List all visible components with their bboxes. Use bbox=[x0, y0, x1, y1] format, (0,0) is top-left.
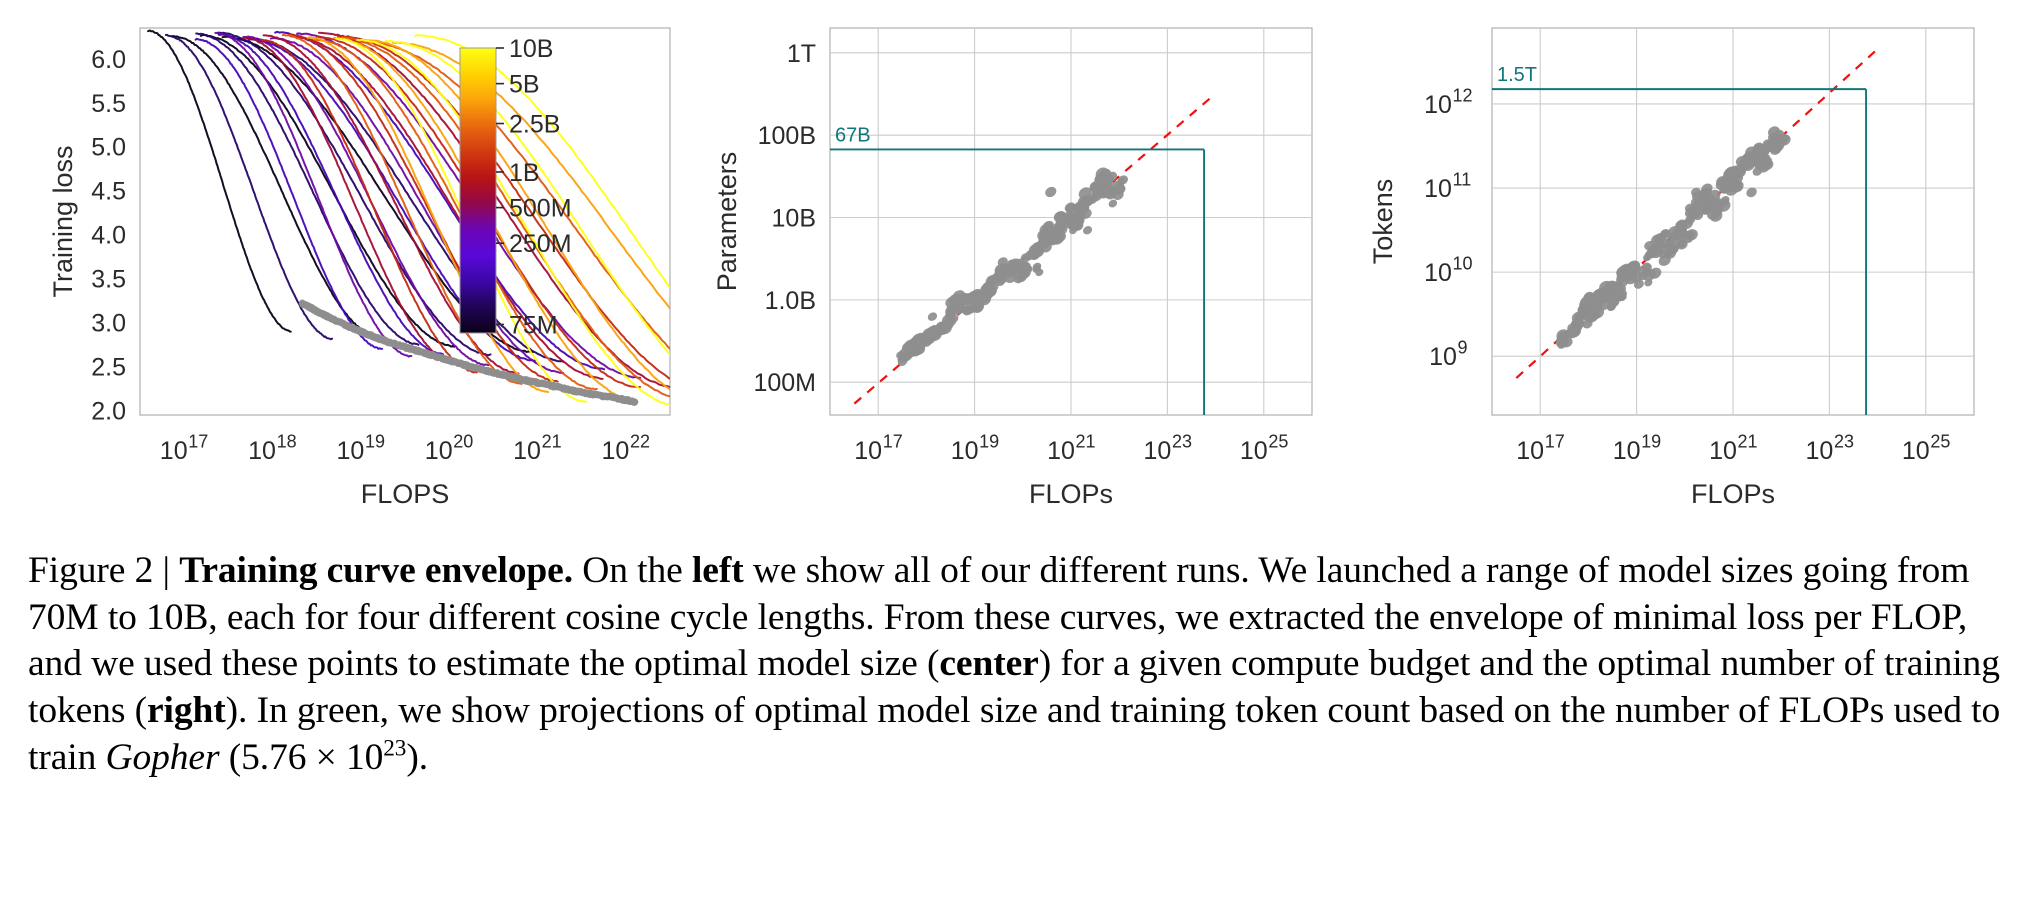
svg-text:21: 21 bbox=[542, 432, 562, 452]
caption-part-6: ). bbox=[406, 737, 428, 778]
svg-text:21: 21 bbox=[1076, 432, 1096, 452]
right-root-y-tick-label: 1012 bbox=[1424, 85, 1472, 119]
right-root-x-tick-label: 1019 bbox=[1613, 432, 1661, 466]
right-plot-svg: 1.5T10910101011101210171019102110231025T… bbox=[1340, 0, 2000, 540]
colorbar-tick-label: 5B bbox=[509, 71, 540, 99]
svg-text:10: 10 bbox=[1143, 437, 1171, 465]
left-x-tick-label: 1017 bbox=[160, 432, 208, 466]
svg-text:12: 12 bbox=[1453, 85, 1473, 105]
center-root-y-tick-label: 100M bbox=[753, 369, 816, 397]
svg-text:19: 19 bbox=[1641, 432, 1661, 452]
left-x-tick-label: 1018 bbox=[248, 432, 296, 466]
svg-text:10: 10 bbox=[1613, 437, 1641, 465]
panel-parameters-vs-flops: 67B100M1.0B10B100B1T10171019102110231025… bbox=[700, 0, 1340, 540]
colorbar-tick-label: 250M bbox=[509, 230, 572, 258]
right-root-x-tick-label: 1017 bbox=[1516, 432, 1564, 466]
right-root-x-axis: 10171019102110231025 bbox=[1516, 432, 1950, 466]
left-x-tick-label: 1021 bbox=[513, 432, 561, 466]
figure-2: 2.02.53.03.54.04.55.05.56.01017101810191… bbox=[0, 0, 2024, 916]
center-root-y-axis: 100M1.0B10B100B1T bbox=[753, 40, 816, 397]
right-root-y-tick-label: 109 bbox=[1429, 338, 1467, 372]
left-x-axis-title: FLOPS bbox=[361, 479, 450, 509]
center-root-x-tick-label: 1017 bbox=[854, 432, 902, 466]
svg-text:10: 10 bbox=[425, 437, 453, 465]
svg-text:10: 10 bbox=[1424, 91, 1452, 119]
colorbar-tick-label: 10B bbox=[509, 35, 553, 63]
svg-text:10: 10 bbox=[1429, 343, 1457, 371]
center-root-y-axis-title: Parameters bbox=[712, 152, 742, 292]
caption-bold-right: right bbox=[147, 690, 226, 731]
right-root-y-tick-label: 1010 bbox=[1424, 254, 1472, 288]
center-plot-svg: 67B100M1.0B10B100B1T10171019102110231025… bbox=[700, 0, 1340, 540]
caption-exponent: 23 bbox=[383, 735, 406, 761]
svg-text:18: 18 bbox=[277, 432, 297, 452]
left-y-tick-label: 2.0 bbox=[91, 398, 126, 426]
panel-tokens-vs-flops: 1.5T10910101011101210171019102110231025T… bbox=[1340, 0, 2000, 540]
right-root-x-tick-label: 1021 bbox=[1709, 432, 1757, 466]
center-root-y-tick-label: 1T bbox=[787, 40, 816, 68]
center-root-x-axis: 10171019102110231025 bbox=[854, 432, 1288, 466]
figure-caption: Figure 2 | Training curve envelope. On t… bbox=[28, 548, 2008, 781]
svg-text:23: 23 bbox=[1172, 432, 1192, 452]
center-root-x-tick-label: 1021 bbox=[1047, 432, 1095, 466]
left-y-tick-label: 4.5 bbox=[91, 178, 126, 206]
left-y-tick-label: 2.5 bbox=[91, 354, 126, 382]
caption-separator: | bbox=[163, 550, 170, 591]
svg-text:20: 20 bbox=[453, 432, 473, 452]
svg-text:25: 25 bbox=[1930, 432, 1950, 452]
center-root-y-tick-label: 100B bbox=[758, 122, 816, 150]
figure-panels: 2.02.53.03.54.04.55.05.56.01017101810191… bbox=[0, 0, 2024, 540]
left-y-axis: 2.02.53.03.54.04.55.05.56.0 bbox=[91, 46, 126, 426]
right-root-x-axis-title: FLOPs bbox=[1691, 479, 1775, 509]
left-y-axis-title: Training loss bbox=[48, 145, 78, 297]
svg-text:10: 10 bbox=[513, 437, 541, 465]
svg-text:10: 10 bbox=[951, 437, 979, 465]
svg-text:10: 10 bbox=[1240, 437, 1268, 465]
left-y-tick-label: 5.5 bbox=[91, 90, 126, 118]
panel-training-curves: 2.02.53.03.54.04.55.05.56.01017101810191… bbox=[30, 0, 710, 540]
right-root-y-tick-label: 1011 bbox=[1424, 170, 1471, 204]
colorbar-tick-label: 2.5B bbox=[509, 111, 560, 139]
left-y-tick-label: 3.5 bbox=[91, 266, 126, 294]
center-root-x-axis-title: FLOPs bbox=[1029, 479, 1113, 509]
caption-part-1: On the bbox=[573, 550, 692, 591]
left-y-tick-label: 6.0 bbox=[91, 46, 126, 74]
left-x-tick-label: 1019 bbox=[336, 432, 384, 466]
svg-text:10: 10 bbox=[160, 437, 188, 465]
left-x-axis: 101710181019102010211022 bbox=[160, 432, 650, 466]
caption-italic-gopher: Gopher bbox=[106, 737, 220, 778]
center-root-x-tick-label: 1025 bbox=[1240, 432, 1288, 466]
caption-bold-center: center bbox=[939, 643, 1038, 684]
projection-label: 67B bbox=[835, 124, 871, 146]
svg-text:17: 17 bbox=[1545, 432, 1565, 452]
left-x-tick-label: 1022 bbox=[601, 432, 649, 466]
svg-text:25: 25 bbox=[1268, 432, 1288, 452]
projection-label: 1.5T bbox=[1497, 64, 1537, 86]
svg-text:10: 10 bbox=[1047, 437, 1075, 465]
colorbar-tick-label: 1B bbox=[509, 159, 540, 187]
colorbar-tick-label: 75M bbox=[509, 311, 558, 339]
left-y-tick-label: 5.0 bbox=[91, 134, 126, 162]
center-root-y-tick-label: 1.0B bbox=[765, 287, 816, 315]
svg-text:23: 23 bbox=[1834, 432, 1854, 452]
svg-text:17: 17 bbox=[188, 432, 208, 452]
svg-text:10: 10 bbox=[1709, 437, 1737, 465]
caption-figure-label: Figure 2 bbox=[28, 550, 153, 591]
svg-text:19: 19 bbox=[979, 432, 999, 452]
caption-title: Training curve envelope. bbox=[179, 550, 573, 591]
svg-text:10: 10 bbox=[1805, 437, 1833, 465]
svg-text:10: 10 bbox=[1424, 259, 1452, 287]
svg-text:10: 10 bbox=[601, 437, 629, 465]
svg-text:10: 10 bbox=[1453, 254, 1473, 274]
svg-text:10: 10 bbox=[854, 437, 882, 465]
svg-text:21: 21 bbox=[1738, 432, 1758, 452]
center-root-x-tick-label: 1023 bbox=[1143, 432, 1191, 466]
colorbar-tick-label: 500M bbox=[509, 195, 572, 223]
left-y-tick-label: 3.0 bbox=[91, 310, 126, 338]
svg-text:11: 11 bbox=[1453, 170, 1472, 190]
svg-text:10: 10 bbox=[1902, 437, 1930, 465]
left-x-tick-label: 1020 bbox=[425, 432, 473, 466]
model-size-colorbar bbox=[460, 48, 496, 333]
right-root-y-axis-title: Tokens bbox=[1368, 179, 1398, 265]
svg-text:10: 10 bbox=[1516, 437, 1544, 465]
left-y-tick-label: 4.0 bbox=[91, 222, 126, 250]
right-root-y-axis: 109101010111012 bbox=[1424, 85, 1472, 371]
svg-text:19: 19 bbox=[365, 432, 385, 452]
caption-part-5: (5.76 × 10 bbox=[219, 737, 383, 778]
center-root-x-tick-label: 1019 bbox=[951, 432, 999, 466]
svg-text:10: 10 bbox=[1424, 175, 1452, 203]
svg-text:10: 10 bbox=[248, 437, 276, 465]
svg-text:22: 22 bbox=[630, 432, 650, 452]
right-root-x-tick-label: 1023 bbox=[1805, 432, 1853, 466]
right-root-x-tick-label: 1025 bbox=[1902, 432, 1950, 466]
svg-text:9: 9 bbox=[1458, 338, 1468, 358]
caption-bold-left: left bbox=[692, 550, 744, 591]
svg-text:10: 10 bbox=[336, 437, 364, 465]
svg-text:17: 17 bbox=[883, 432, 903, 452]
left-plot-svg: 2.02.53.03.54.04.55.05.56.01017101810191… bbox=[30, 0, 710, 540]
center-root-y-tick-label: 10B bbox=[772, 205, 816, 233]
